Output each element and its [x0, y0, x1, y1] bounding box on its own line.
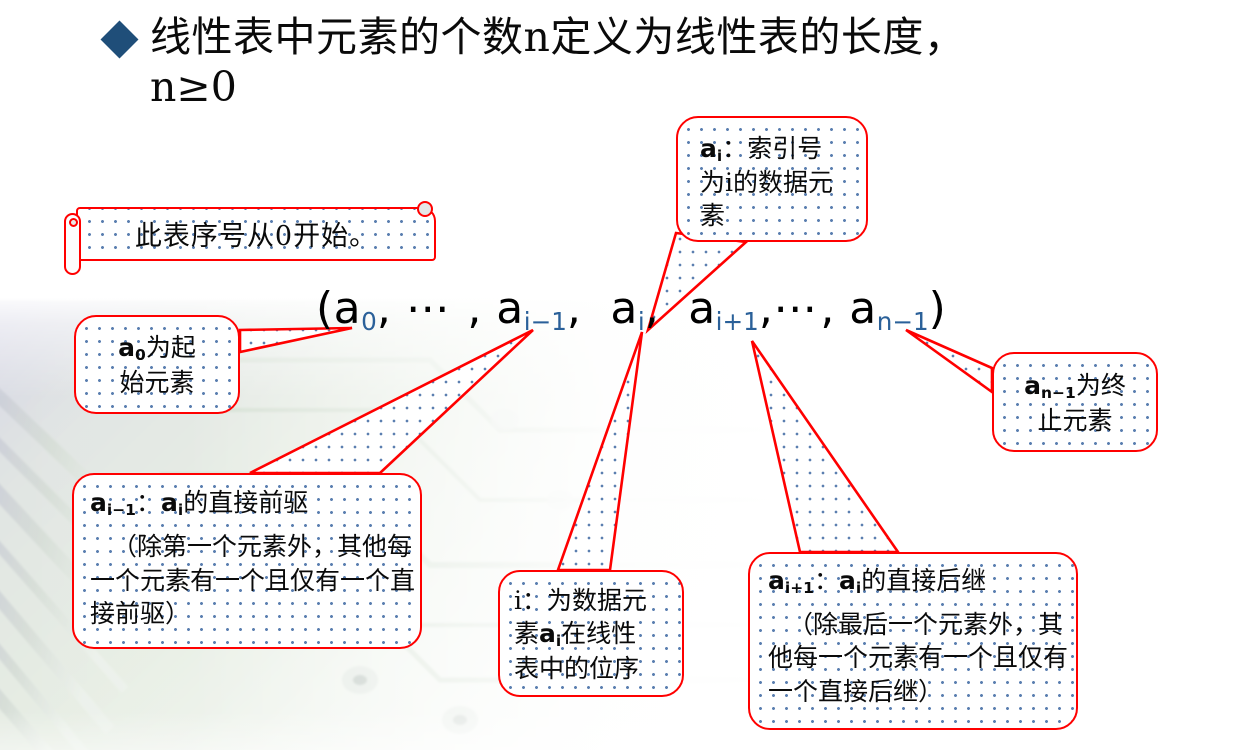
diamond-bullet-icon	[100, 21, 138, 59]
callout-prev-paragraph: （除第一个元素外，其他每一个元素有一个且仅有一个直接前驱）	[90, 530, 420, 631]
callout-ai-text: ai：索引号为i的数据元素	[700, 132, 866, 232]
callout-ai-label: ai	[700, 134, 722, 163]
formula-ellipsis-right: ⋯	[773, 283, 820, 334]
formula-term-a0: a0,	[334, 283, 392, 334]
callout-index-line2-rest: 在线性	[561, 619, 636, 648]
scroll-note-text: 此表序号从0开始。	[135, 214, 377, 255]
callout-start-text: a0为起始元素	[76, 331, 238, 400]
tail-end	[906, 330, 992, 392]
page-title: 线性表中元素的个数n定义为线性表的长度， n≥0	[106, 14, 1226, 111]
callout-start-line2: 始元素	[119, 368, 194, 397]
callout-end-label-sub: n−1	[1041, 384, 1076, 402]
formula-open-paren: (	[316, 283, 334, 334]
callout-ai-line2: 为i的数据元	[700, 168, 833, 197]
callout-end-line2: 止元素	[1037, 406, 1112, 435]
scroll-curl-right-icon	[417, 201, 433, 217]
callout-index-position: i：为数据元素ai在线性表中的位序	[498, 570, 684, 697]
formula-term-ai: ai,	[596, 283, 659, 334]
formula-sub-i: i	[638, 307, 645, 336]
callout-end-label: an−1	[1024, 371, 1076, 400]
scroll-curl-left-icon	[64, 213, 81, 275]
callout-index-text: i：为数据元素ai在线性表中的位序	[514, 584, 682, 685]
callout-ai-line1: 索引号	[747, 134, 822, 163]
callout-prev-label-2: ai	[161, 488, 183, 517]
callout-prev-colon: ：	[136, 488, 161, 517]
callout-predecessor: ai−1：ai的直接前驱 （除第一个元素外，其他每一个元素有一个且仅有一个直接前…	[72, 473, 422, 649]
callout-end-line1: 为终	[1076, 371, 1126, 400]
callout-start-label-sub: 0	[135, 346, 146, 364]
callout-start-element: a0为起始元素	[74, 315, 240, 414]
callout-prev-label-1-sub: i−1	[107, 501, 136, 519]
callout-next-label-1: ai+1	[768, 566, 814, 595]
callout-ai-colon: ：	[722, 134, 747, 163]
callout-prev-label-1: ai−1	[90, 488, 136, 517]
callout-ai-line3: 素	[700, 201, 725, 230]
formula-term-ai+1: ai+1,	[674, 283, 774, 334]
formula-sub-0: 0	[361, 307, 377, 336]
callout-next-heading: ai+1：ai的直接后继	[768, 565, 1076, 598]
callout-end-element: an−1为终止元素	[992, 352, 1158, 452]
tail-index	[558, 332, 642, 570]
sequence-formula: (a0, ⋯ , ai−1, ai, ai+1,⋯, an−1)	[316, 283, 946, 336]
title-line-2: n≥0	[150, 64, 1226, 112]
formula-sub-i-plus-1: i+1	[716, 307, 759, 336]
formula-sub-n-minus-1: n−1	[877, 307, 929, 336]
tail-next	[752, 341, 898, 552]
callout-prev-heading-rest: 的直接前驱	[183, 488, 308, 517]
title-line-1: 线性表中元素的个数n定义为线性表的长度，	[150, 14, 965, 62]
callout-start-label: a0	[118, 333, 146, 362]
callout-end-text: an−1为终止元素	[994, 369, 1156, 438]
scroll-note-body: 此表序号从0开始。	[76, 207, 436, 261]
callout-next-label-2: ai	[839, 566, 861, 595]
formula-ellipsis-left: ⋯	[406, 283, 453, 334]
callout-next-paragraph: （除最后一个元素外，其他每一个元素有一个且仅有一个直接后继）	[768, 608, 1076, 708]
scroll-note-banner: 此表序号从0开始。	[62, 207, 436, 269]
callout-ai-definition: ai：索引号为i的数据元素	[676, 116, 868, 242]
callout-next-colon: ：	[814, 566, 839, 595]
callout-next-heading-rest: 的直接后继	[861, 566, 986, 595]
callout-start-line1: 为起	[146, 333, 196, 362]
tail-prev	[250, 330, 533, 473]
callout-next-label-1-sub: i+1	[785, 579, 814, 597]
slide-canvas: 线性表中元素的个数n定义为线性表的长度， n≥0 (a0,	[0, 0, 1254, 750]
callout-prev-heading: ai−1：ai的直接前驱	[90, 487, 420, 520]
callout-index-line2-pre: 素	[514, 619, 539, 648]
formula-sub-i-minus-1: i−1	[524, 307, 567, 336]
formula-close-paren: )	[929, 283, 947, 334]
formula-term-ai-1: , ai−1,	[467, 283, 581, 334]
callout-successor: ai+1：ai的直接后继 （除最后一个元素外，其他每一个元素有一个且仅有一个直接…	[748, 552, 1078, 730]
callout-index-line3: 表中的位序	[514, 654, 639, 683]
callout-index-label: ai	[539, 619, 561, 648]
callout-index-line1: i：为数据元	[514, 586, 647, 615]
formula-term-an-1: , an−1	[820, 283, 928, 334]
